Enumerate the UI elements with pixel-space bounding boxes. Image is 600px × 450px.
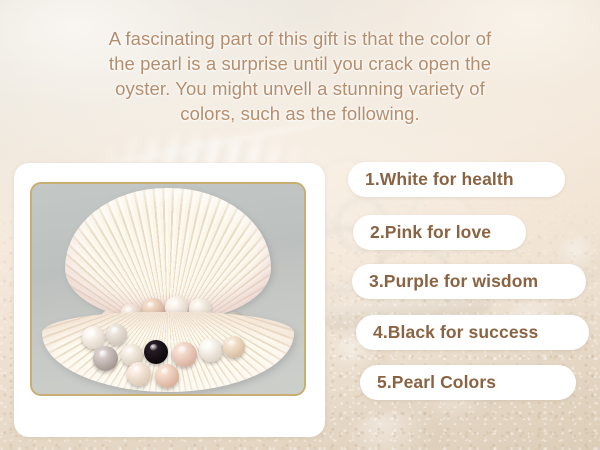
list-item-label: 1.White for health xyxy=(365,169,514,190)
headline-paragraph: A fascinating part of this gift is that … xyxy=(50,26,550,126)
list-item[interactable]: 4.Black for success xyxy=(356,315,589,350)
pearl xyxy=(223,336,245,358)
photo-card xyxy=(14,163,325,437)
list-item-label: 2.Pink for love xyxy=(370,222,491,243)
pearl xyxy=(155,364,179,388)
pearl xyxy=(144,340,168,364)
pearl xyxy=(199,338,223,362)
poster-canvas: A fascinating part of this gift is that … xyxy=(0,0,600,450)
list-item-label: 4.Black for success xyxy=(373,322,538,343)
list-item[interactable]: 1.White for health xyxy=(348,162,565,197)
list-item[interactable]: 2.Pink for love xyxy=(353,215,526,250)
pearl xyxy=(106,324,127,345)
list-item-label: 5.Pearl Colors xyxy=(377,372,496,393)
list-item-label: 3.Purple for wisdom xyxy=(369,271,538,292)
pearls-in-shell-photo xyxy=(32,184,304,394)
list-item[interactable]: 5.Pearl Colors xyxy=(360,365,576,400)
pearl xyxy=(127,362,151,386)
photo-frame xyxy=(30,182,306,396)
pearl xyxy=(93,346,118,371)
list-item[interactable]: 3.Purple for wisdom xyxy=(352,264,586,299)
pearl xyxy=(172,342,197,367)
